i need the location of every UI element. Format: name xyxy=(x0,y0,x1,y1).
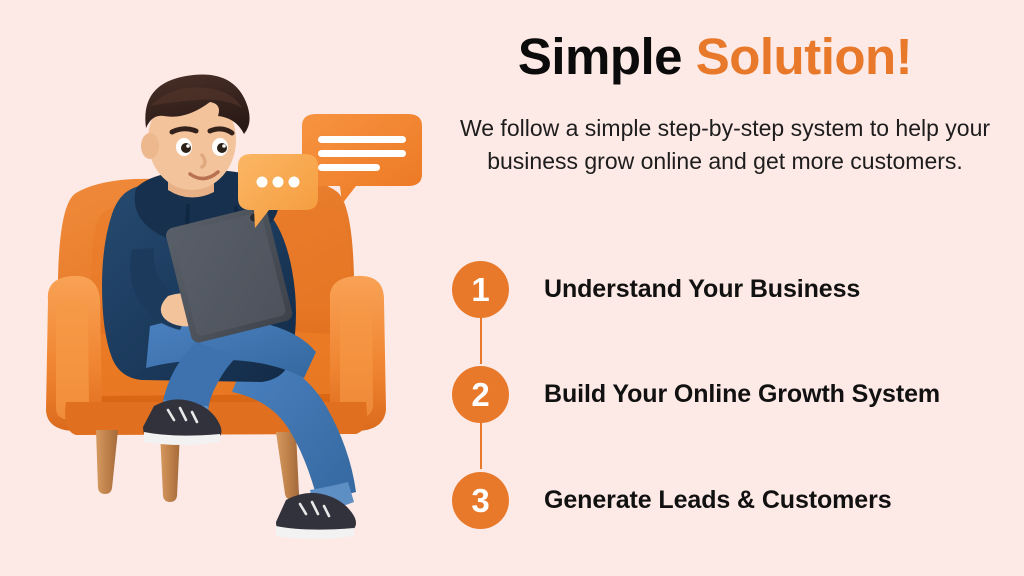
steps-list: 1 Understand Your Business 2 Build Your … xyxy=(430,250,1024,550)
step-item-1[interactable]: 1 Understand Your Business xyxy=(430,260,1024,318)
step-number-badge-3: 3 xyxy=(452,472,509,529)
chair-leg-left xyxy=(96,430,118,494)
step-item-3[interactable]: 3 Generate Leads & Customers xyxy=(430,471,1024,529)
content-panel: Simple Solution! We follow a simple step… xyxy=(430,0,1024,576)
step-label-1: Understand Your Business xyxy=(544,275,860,304)
step-item-2[interactable]: 2 Build Your Online Growth System xyxy=(430,365,1024,423)
title-word-solution: Solution! xyxy=(696,28,912,85)
step-label-2: Build Your Online Growth System xyxy=(544,380,940,409)
chair-leg-right xyxy=(276,432,299,500)
slide-root: Simple Solution! We follow a simple step… xyxy=(0,0,1024,576)
step-label-3: Generate Leads & Customers xyxy=(544,486,892,515)
step-number-badge-2: 2 xyxy=(452,366,509,423)
step-number-badge-1: 1 xyxy=(452,261,509,318)
page-title: Simple Solution! xyxy=(430,30,1000,84)
title-word-simple: Simple xyxy=(518,28,696,85)
illustration-person-in-armchair xyxy=(0,0,430,576)
subtitle-text: We follow a simple step-by-step system t… xyxy=(450,112,1000,177)
